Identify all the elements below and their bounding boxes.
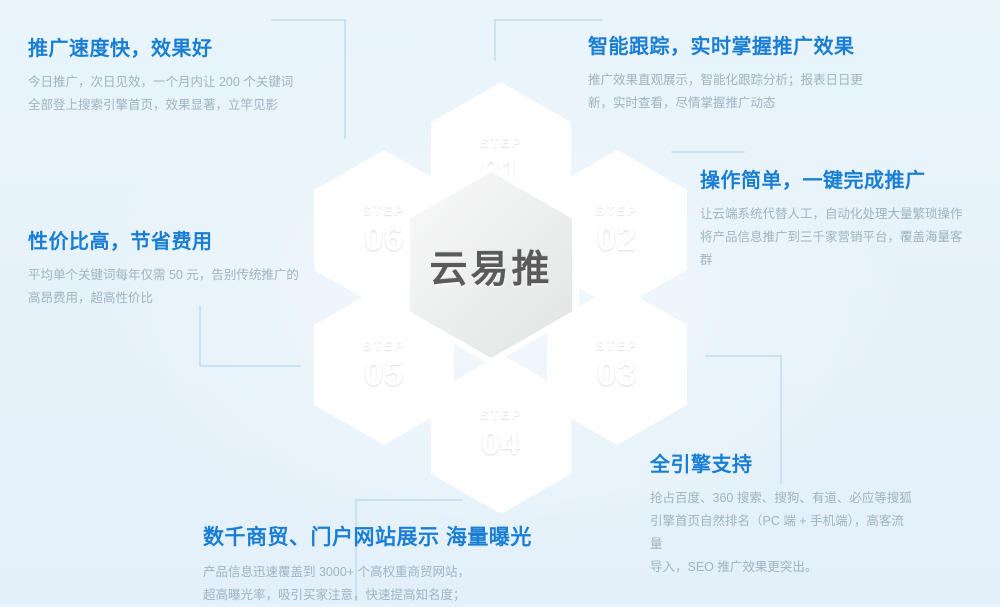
step-number-03: 03 bbox=[597, 357, 637, 391]
step-word-04: STEP bbox=[480, 408, 523, 421]
connector-tracking bbox=[495, 20, 602, 60]
step-number-05: 05 bbox=[364, 357, 404, 391]
feature-block-exposure: 数千商贸、门户网站展示 海量曝光 产品信息迅速覆盖到 3000+ 个高权重商贸网… bbox=[203, 521, 532, 607]
feature-body-engines: 抢占百度、360 搜索、搜狗、有道、必应等搜狐 引擎首页自然排名（PC 端 + … bbox=[650, 487, 912, 580]
feature-title-engines: 全引擎支持 bbox=[650, 448, 912, 477]
feature-line: 今日推广，次日见效，一个月内让 200 个关键词 bbox=[28, 75, 293, 89]
step-word-05: STEP bbox=[363, 339, 406, 352]
feature-line: 超高曝光率，吸引买家注意，快速提高知名度； bbox=[203, 588, 466, 602]
step-word-03: STEP bbox=[596, 339, 639, 352]
step-number-04: 04 bbox=[481, 426, 521, 460]
feature-title-simple: 操作简单，一键完成推广 bbox=[700, 164, 968, 193]
feature-title-value: 性价比高，节省费用 bbox=[28, 225, 308, 254]
feature-line: 高昂费用，超高性价比 bbox=[28, 291, 153, 305]
feature-line: 新，实时查看，尽情掌握推广动态 bbox=[588, 96, 776, 110]
feature-line: 全部登上搜索引擎首页，效果显著，立竿见影 bbox=[28, 98, 278, 112]
feature-title-tracking: 智能跟踪，实时掌握推广效果 bbox=[588, 30, 863, 59]
feature-block-speed: 推广速度快，效果好 今日推广，次日见效，一个月内让 200 个关键词 全部登上搜… bbox=[28, 32, 293, 117]
feature-line: 平均单个关键词每年仅需 50 元，告别传统推广的 bbox=[28, 268, 299, 282]
feature-line: 导入，SEO 推广效果更突出。 bbox=[650, 560, 817, 574]
step-number-06: 06 bbox=[364, 222, 404, 256]
hex-center-brand: 云易推 bbox=[403, 165, 579, 365]
feature-line: 将产品信息推广到三千家营销平台，覆盖海量客 bbox=[700, 230, 963, 244]
feature-block-engines: 全引擎支持 抢占百度、360 搜索、搜狗、有道、必应等搜狐 引擎首页自然排名（P… bbox=[650, 448, 912, 580]
hex-label-04: STEP 04 bbox=[431, 354, 571, 514]
step-word-01: STEP bbox=[480, 136, 523, 149]
step-word-06: STEP bbox=[363, 204, 406, 217]
feature-body-speed: 今日推广，次日见效，一个月内让 200 个关键词 全部登上搜索引擎首页，效果显著… bbox=[28, 71, 293, 117]
feature-line: 引擎首页自然排名（PC 端 + 手机端），高客流量 bbox=[650, 514, 904, 551]
feature-body-simple: 让云端系统代替人工，自动化处理大量繁琐操作 将产品信息推广到三千家营销平台，覆盖… bbox=[700, 203, 968, 272]
feature-body-value: 平均单个关键词每年仅需 50 元，告别传统推广的 高昂费用，超高性价比 bbox=[28, 264, 308, 310]
feature-block-simple: 操作简单，一键完成推广 让云端系统代替人工，自动化处理大量繁琐操作 将产品信息推… bbox=[700, 164, 968, 272]
hex-cluster: STEP 01 STEP 02 STEP 03 STEP 04 STEP 0 bbox=[276, 60, 706, 470]
feature-line: 让云端系统代替人工，自动化处理大量繁琐操作 bbox=[700, 207, 963, 221]
feature-body-tracking: 推广效果直观展示，智能化跟踪分析；报表日日更 新，实时查看，尽情掌握推广动态 bbox=[588, 69, 863, 115]
feature-line: 推广效果直观展示，智能化跟踪分析；报表日日更 bbox=[588, 73, 863, 87]
feature-block-value: 性价比高，节省费用 平均单个关键词每年仅需 50 元，告别传统推广的 高昂费用，… bbox=[28, 225, 308, 310]
feature-title-exposure: 数千商贸、门户网站展示 海量曝光 bbox=[203, 521, 532, 551]
feature-line: 抢占百度、360 搜索、搜狗、有道、必应等搜狐 bbox=[650, 491, 912, 505]
feature-body-exposure: 产品信息迅速覆盖到 3000+ 个高权重商贸网站， 超高曝光率，吸引买家注意，快… bbox=[203, 561, 532, 607]
feature-title-speed: 推广速度快，效果好 bbox=[28, 32, 293, 61]
step-number-02: 02 bbox=[597, 222, 637, 256]
step-word-02: STEP bbox=[596, 204, 639, 217]
feature-line: 产品信息迅速覆盖到 3000+ 个高权重商贸网站， bbox=[203, 565, 470, 579]
hex-step-04[interactable]: STEP 04 bbox=[431, 354, 571, 514]
feature-line: 群 bbox=[700, 253, 713, 267]
feature-block-tracking: 智能跟踪，实时掌握推广效果 推广效果直观展示，智能化跟踪分析；报表日日更 新，实… bbox=[588, 30, 863, 115]
brand-title: 云易推 bbox=[403, 165, 579, 365]
